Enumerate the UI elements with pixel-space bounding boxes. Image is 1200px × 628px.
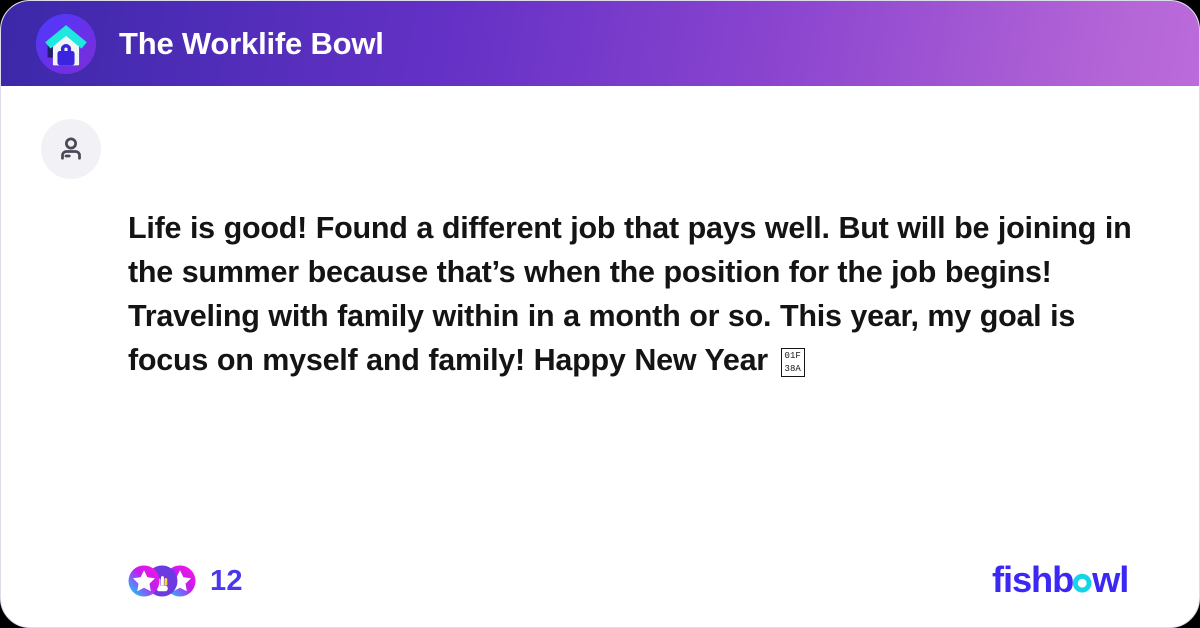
bowl-header: The Worklife Bowl <box>1 1 1199 86</box>
house-with-briefcase-logo-icon <box>35 13 97 75</box>
svg-text:fishb: fishb <box>992 559 1073 600</box>
fishbowl-wordmark-logo[interactable]: fishb wl <box>992 559 1157 603</box>
reactions-group[interactable]: 12 <box>128 565 243 597</box>
reaction-icons[interactable] <box>128 565 196 597</box>
post-text: Life is good! Found a different job that… <box>128 206 1158 382</box>
confetti-emoji-tofu-icon: 01F38A <box>781 348 805 377</box>
bowl-title: The Worklife Bowl <box>119 28 384 59</box>
reaction-count: 12 <box>210 567 243 596</box>
tofu-codepoint-bottom: 38A <box>782 363 804 377</box>
post-body: Life is good! Found a different job that… <box>1 86 1199 627</box>
star-reaction-icon[interactable] <box>128 565 160 597</box>
avatar[interactable] <box>41 119 101 179</box>
post-card: The Worklife Bowl Life is good! Found a … <box>0 0 1200 628</box>
post-footer: 12 fishb wl <box>1 535 1199 627</box>
tofu-codepoint-top: 01F <box>782 349 804 363</box>
user-avatar-icon <box>56 134 86 164</box>
svg-text:wl: wl <box>1091 559 1128 600</box>
post-text-content: Life is good! Found a different job that… <box>128 211 1131 377</box>
